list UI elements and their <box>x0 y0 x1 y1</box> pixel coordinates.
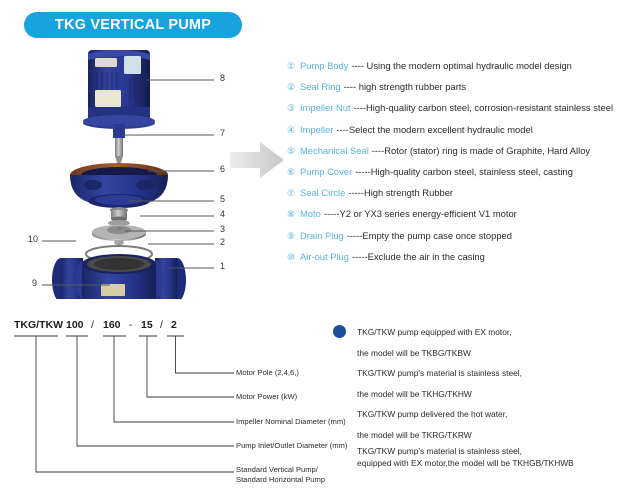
variant-note-line: the model will be TKBG/TKBW <box>357 343 617 364</box>
legend-number: ⑨ <box>287 231 300 242</box>
legend-item: ⑤ Mechanical Seal ----Rotor (stator) rin… <box>287 145 617 166</box>
callout-number-10: 10 <box>28 234 38 244</box>
legend-item: ⑩ Air-out Plug -----Exclude the air in t… <box>287 251 617 272</box>
variant-note-line: the model will be TKHG/TKHW <box>357 384 617 405</box>
callout-number-7: 7 <box>220 128 225 138</box>
model-code-separator: / <box>91 319 94 331</box>
legend-part-name: Pump Cover <box>300 166 352 177</box>
legend-description: ----Select the modern excellent hydrauli… <box>336 124 532 135</box>
legend-item: ⑧ Moto -----Y2 or YX3 series energy-effi… <box>287 208 617 229</box>
legend-part-name: Moto <box>300 208 321 219</box>
legend-description: ----High-quality carbon steel, corrosion… <box>354 102 613 113</box>
legend-description: -----Empty the pump case once stopped <box>347 230 512 241</box>
model-code-segment-series: TKG/TKW <box>14 319 63 331</box>
legend-number: ③ <box>287 103 300 114</box>
leader-label-inlet-outlet-diameter: Pump Inlet/Outlet Diameter (mm) <box>236 441 347 451</box>
variant-note-line: TKG/TKW pump equipped with EX motor, <box>357 322 617 343</box>
variant-note-line: TKG/TKW pump's material is stainless ste… <box>357 363 617 384</box>
legend-part-name: Impeller <box>300 124 333 135</box>
legend-number: ④ <box>287 125 300 136</box>
exploded-pump-diagram: 8 7 6 5 4 3 2 1 10 9 <box>18 44 248 299</box>
callout-number-9: 9 <box>32 278 37 288</box>
variant-note-line: the model will be TKRG/TKRW <box>357 425 617 446</box>
legend-item: ④ Impeller ----Select the modern excelle… <box>287 124 617 145</box>
legend-part-name: Impeller Nut <box>300 102 351 113</box>
model-code-segment-impeller: 160 <box>103 319 121 331</box>
model-code-segment-power: 15 <box>141 319 153 331</box>
part-shaft <box>113 124 125 166</box>
legend-item: ⑨ Drain Plug -----Empty the pump case on… <box>287 230 617 251</box>
legend-item: ⑥ Pump Cover -----High-quality carbon st… <box>287 166 617 187</box>
leader-label-standard-horizontal-pump: Standard Horizontal Pump <box>236 475 325 485</box>
part-pump-body <box>52 254 186 299</box>
model-code-breakdown: TKG/TKW 100 160 15 2 / - / Motor Pole (2… <box>0 305 330 500</box>
model-code-segment-inlet: 100 <box>66 319 84 331</box>
part-motor <box>83 50 155 129</box>
leader-label-impeller-diameter: Impeller Nominal Diameter (mm) <box>236 417 346 427</box>
legend-description: -----High strength Rubber <box>348 187 453 198</box>
model-code-segment-pole: 2 <box>171 319 177 331</box>
variant-note-line: equipped with EX motor,the model will be… <box>357 457 617 469</box>
legend-item: ③ Impeller Nut ----High-quality carbon s… <box>287 102 617 123</box>
model-code-separator: - <box>129 319 133 331</box>
callout-number-8: 8 <box>220 73 225 83</box>
model-variant-notes: TKG/TKW pump equipped with EX motor, the… <box>333 322 617 469</box>
legend-number: ① <box>287 61 300 72</box>
leader-label-motor-pole: Motor Pole (2,4,6,) <box>236 368 299 378</box>
parts-legend: ① Pump Body ---- Using the modern optima… <box>287 60 617 272</box>
legend-description: -----Exclude the air in the casing <box>352 251 485 262</box>
legend-number: ⑩ <box>287 252 300 263</box>
legend-description: -----High-quality carbon steel, stainles… <box>355 166 573 177</box>
part-impeller <box>92 225 146 241</box>
legend-description: ---- high strength rubber parts <box>344 81 466 92</box>
legend-part-name: Pump Body <box>300 60 348 71</box>
legend-part-name: Air-out Plug <box>300 251 349 262</box>
callout-number-1: 1 <box>220 261 225 271</box>
callout-number-3: 3 <box>220 224 225 234</box>
legend-item: ② Seal Ring ---- high strength rubber pa… <box>287 81 617 102</box>
model-code-separator: / <box>160 319 163 331</box>
legend-description: ----Rotor (stator) ring is made of Graph… <box>372 145 590 156</box>
leader-label-motor-power: Motor Power (kW) <box>236 392 297 402</box>
variant-note-line: TKG/TKW pump delivered the hot water, <box>357 404 617 425</box>
callout-number-6: 6 <box>220 164 225 174</box>
legend-item: ⑦ Seal Circle -----High strength Rubber <box>287 187 617 208</box>
legend-number: ⑤ <box>287 146 300 157</box>
callout-number-5: 5 <box>220 194 225 204</box>
legend-number: ② <box>287 82 300 93</box>
part-impeller-nut <box>114 240 124 245</box>
page-title: TKG VERTICAL PUMP <box>55 17 211 33</box>
part-mechanical-seal <box>108 207 130 226</box>
legend-description: -----Y2 or YX3 series energy-efficient V… <box>324 208 517 219</box>
legend-item: ① Pump Body ---- Using the modern optima… <box>287 60 617 81</box>
legend-number: ⑧ <box>287 209 300 220</box>
variant-note-line: TKG/TKW pump's material is stainless ste… <box>357 445 617 457</box>
callout-number-2: 2 <box>220 237 225 247</box>
legend-description: ---- Using the modern optimal hydraulic … <box>351 60 571 71</box>
legend-part-name: Drain Plug <box>300 230 344 241</box>
bullet-point-icon <box>333 325 346 338</box>
legend-part-name: Seal Ring <box>300 81 341 92</box>
flow-arrow <box>228 138 286 182</box>
legend-part-name: Mechanical Seal <box>300 145 369 156</box>
leader-label-standard-vertical-pump: Standard Vertical Pump/ <box>236 465 318 475</box>
callout-number-4: 4 <box>220 209 225 219</box>
legend-number: ⑦ <box>287 188 300 199</box>
page-title-banner: TKG VERTICAL PUMP <box>24 12 242 38</box>
legend-part-name: Seal Circle <box>300 187 345 198</box>
legend-number: ⑥ <box>287 167 300 178</box>
